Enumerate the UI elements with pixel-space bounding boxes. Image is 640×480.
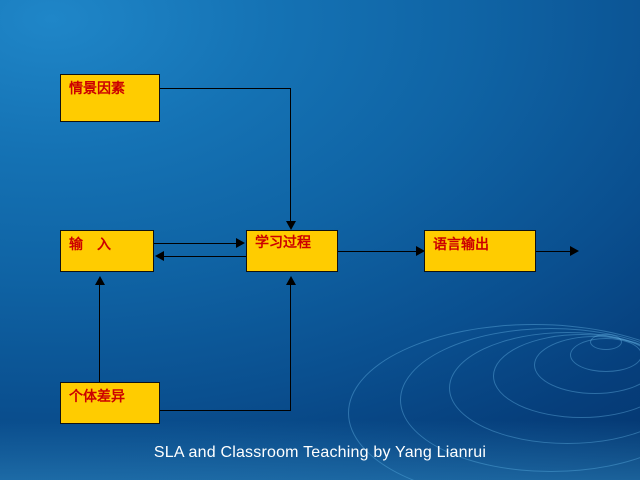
arrow-individual-to-input: [95, 276, 105, 285]
decorative-ring-1: [590, 334, 622, 350]
slide-caption: SLA and Classroom Teaching by Yang Lianr…: [0, 444, 640, 462]
connector-individual-to-process-horizontal: [160, 410, 291, 411]
node-language-output[interactable]: 语言输出: [424, 230, 536, 272]
connector-output-to-right: [536, 251, 572, 252]
slide-canvas: 情景因素 输 入 学习过程 语言输出 个体差异 SLA and Classroo…: [0, 0, 640, 480]
node-label-individual-difference: 个体差异: [69, 388, 125, 404]
connector-process-to-input: [164, 256, 246, 257]
decorative-ring-5: [449, 332, 640, 444]
node-situational-factors[interactable]: 情景因素: [60, 74, 160, 122]
arrow-process-to-input: [155, 251, 164, 261]
connector-situational-to-process-vertical: [290, 88, 291, 221]
node-label-situational-factors: 情景因素: [69, 80, 125, 96]
connector-situational-to-process-horizontal: [160, 88, 290, 89]
connector-individual-to-process-vertical: [290, 285, 291, 411]
node-individual-difference[interactable]: 个体差异: [60, 382, 160, 424]
decorative-ring-2: [570, 338, 640, 372]
node-learning-process[interactable]: 学习过程: [246, 230, 338, 272]
node-label-input: 输 入: [69, 236, 111, 252]
node-label-language-output: 语言输出: [433, 236, 489, 252]
node-label-learning-process: 学习过程: [255, 234, 311, 250]
arrow-individual-to-process: [286, 276, 296, 285]
arrow-situational-to-process: [286, 221, 296, 230]
node-input[interactable]: 输 入: [60, 230, 154, 272]
decorative-ring-4: [493, 334, 640, 418]
connector-process-to-output: [338, 251, 416, 252]
arrow-output-to-right: [570, 246, 579, 256]
connector-input-to-process: [154, 243, 236, 244]
connector-individual-to-input: [99, 285, 100, 382]
arrow-input-to-process: [236, 238, 245, 248]
decorative-ring-3: [534, 336, 640, 394]
